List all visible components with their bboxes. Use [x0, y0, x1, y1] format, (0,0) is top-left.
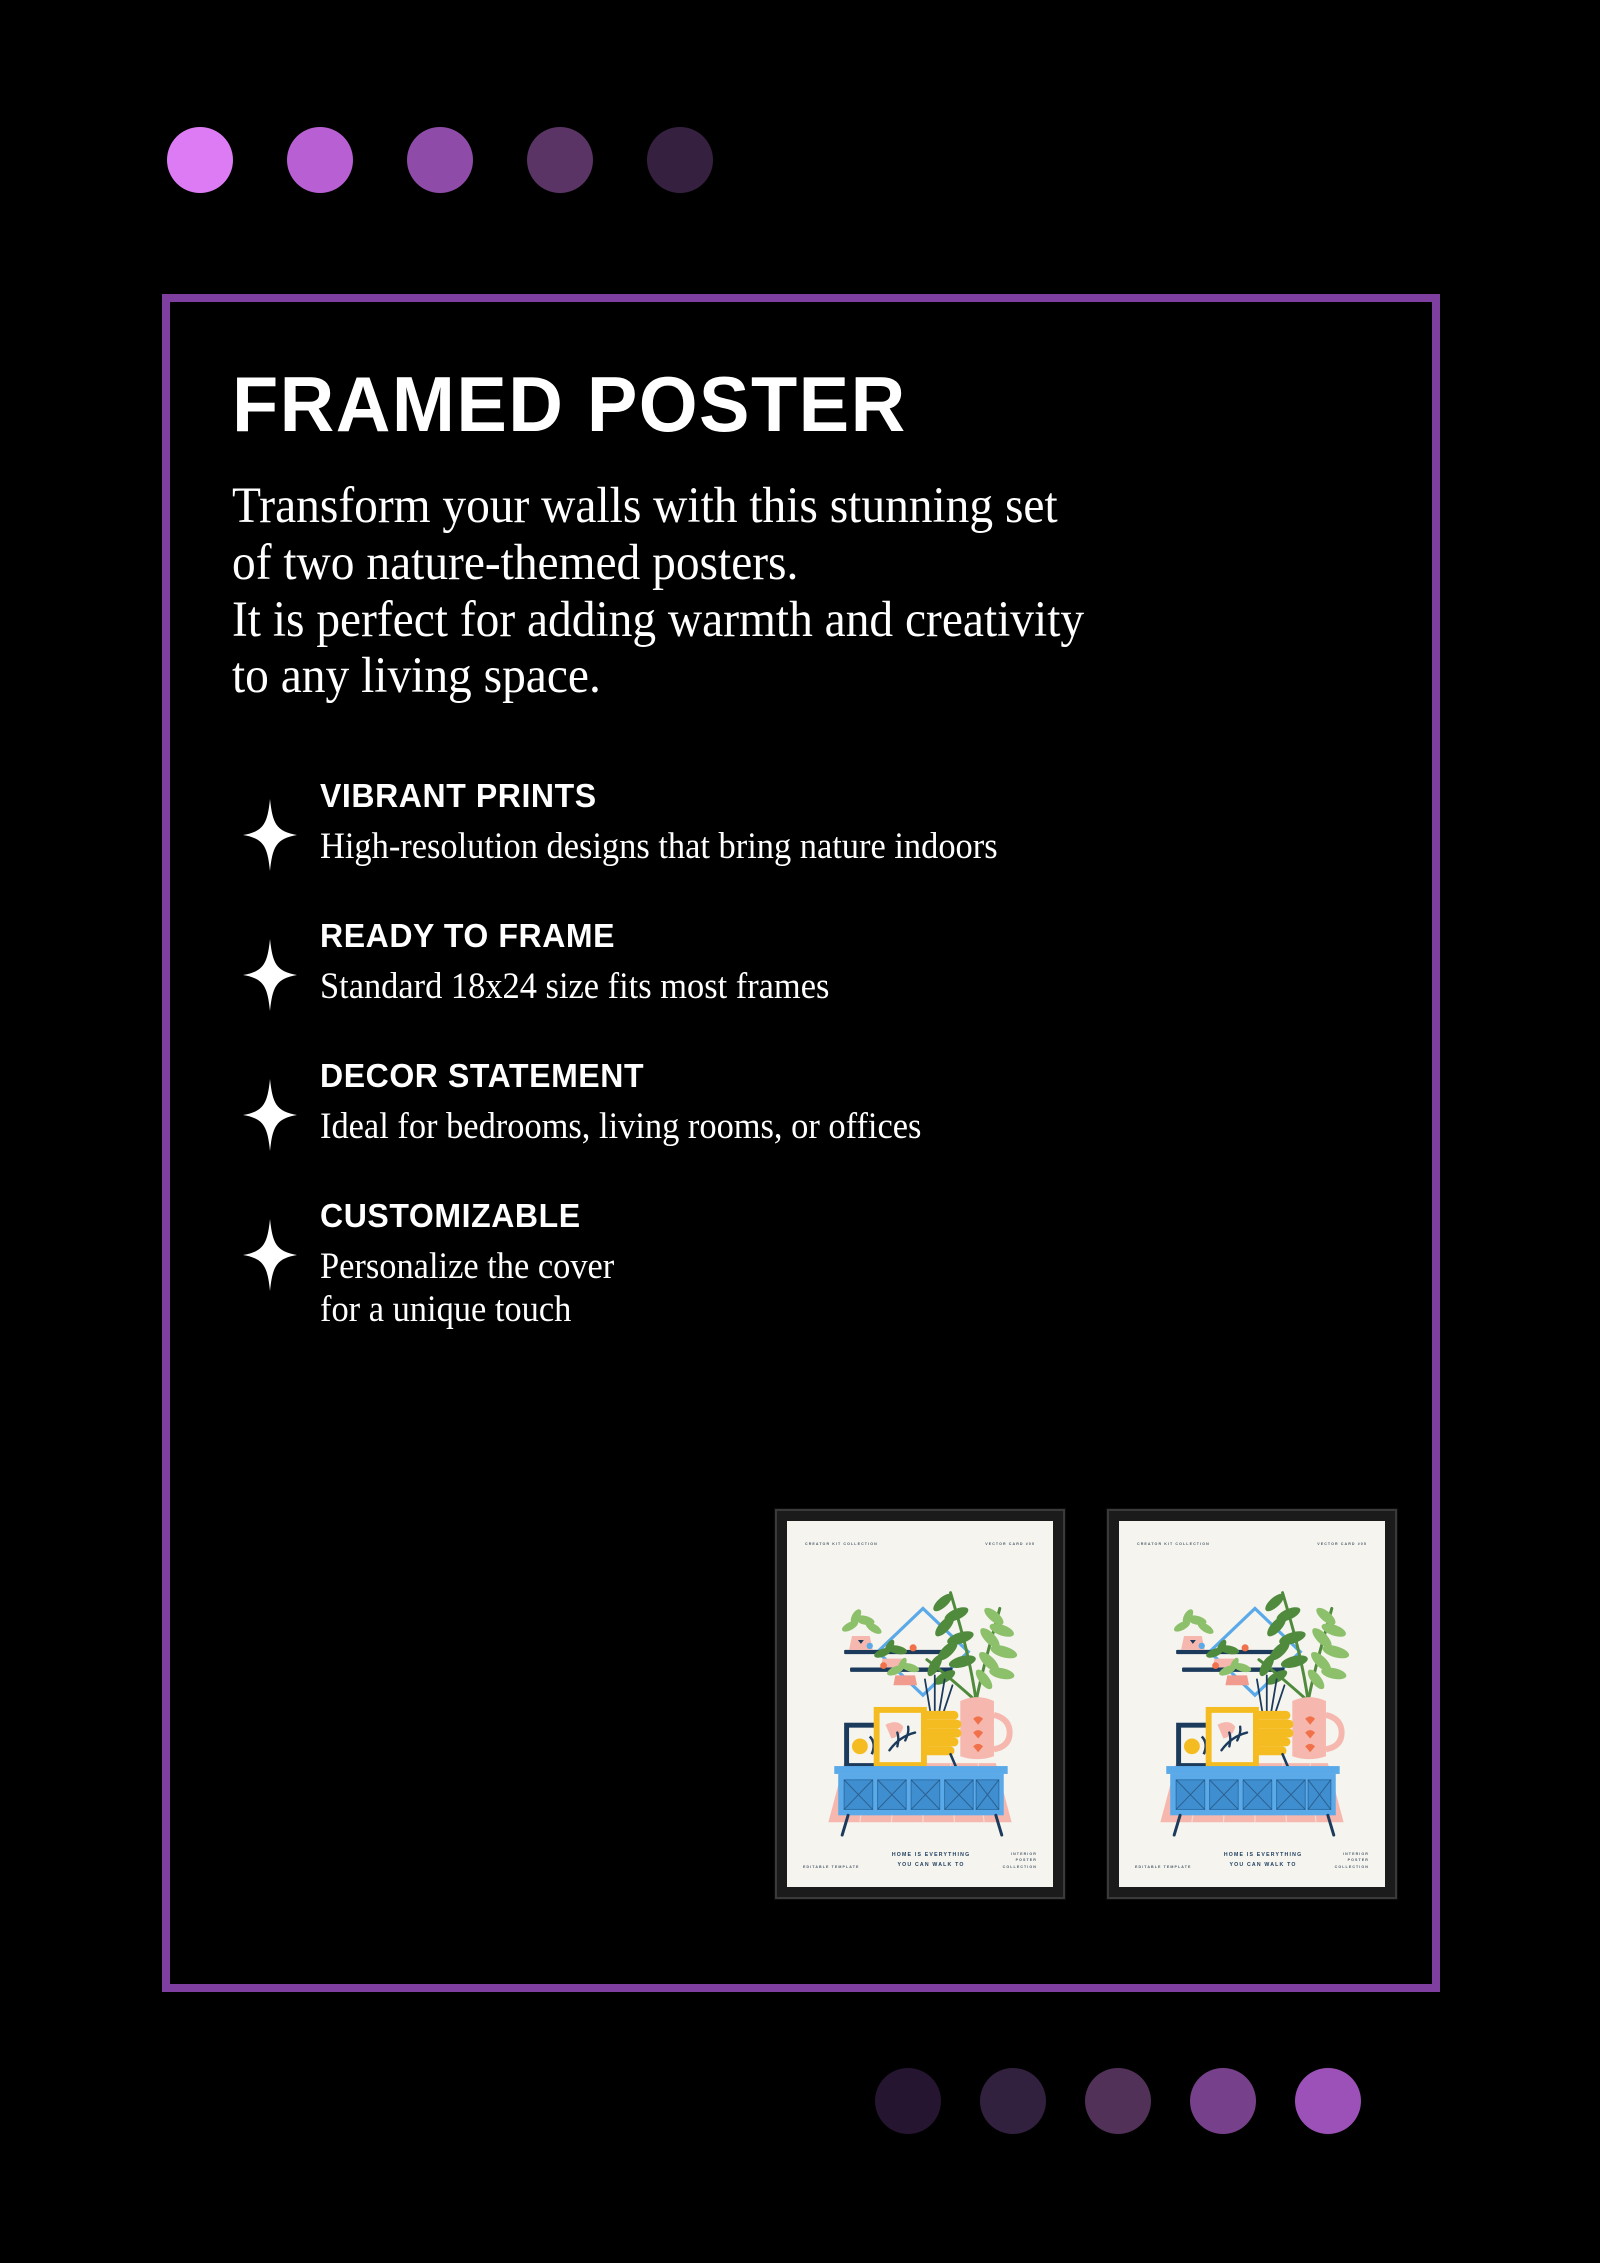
poster-template-label: EDITABLE TEMPLATE [803, 1864, 860, 1871]
feature-list: VIBRANT PRINTS High-resolution designs t… [232, 777, 1370, 1332]
decorative-dot [1190, 2068, 1256, 2134]
feature-title: READY TO FRAME [320, 917, 851, 955]
decorative-dot [1085, 2068, 1151, 2134]
decorative-dot [167, 127, 233, 193]
bottom-dot-row [875, 2068, 1361, 2134]
sparkle-icon [232, 1057, 308, 1151]
sparkle-icon [232, 777, 308, 871]
decorative-dot [527, 127, 593, 193]
sparkle-icon [232, 1197, 308, 1291]
feature-item: DECOR STATEMENT Ideal for bedrooms, livi… [232, 1057, 1370, 1151]
poster-preview-group: CREATOR KIT COLLECTION VECTOR CARD #05 E… [775, 1509, 1397, 1899]
feature-description: Ideal for bedrooms, living rooms, or off… [320, 1105, 921, 1149]
page-title: FRAMED POSTER [232, 366, 1336, 442]
feature-item: CUSTOMIZABLE Personalize the cover for a… [232, 1197, 1370, 1332]
poster-collection-label: CREATOR KIT COLLECTION [1137, 1541, 1210, 1548]
poster-meta-bottom: EDITABLE TEMPLATE HOME IS EVERYTHING YOU… [1135, 1851, 1369, 1871]
feature-description: Personalize the cover for a unique touch [320, 1245, 614, 1332]
poster-thumbnail[interactable]: CREATOR KIT COLLECTION VECTOR CARD #05 E… [1107, 1509, 1397, 1899]
feature-title: CUSTOMIZABLE [320, 1197, 627, 1235]
poster-series-label: INTERIOR POSTER COLLECTION [1003, 1851, 1037, 1871]
poster-series-label: INTERIOR POSTER COLLECTION [1335, 1851, 1369, 1871]
poster-artwork: CREATOR KIT COLLECTION VECTOR CARD #05 E… [787, 1521, 1053, 1887]
top-dot-row [167, 127, 713, 193]
decorative-dot [1295, 2068, 1361, 2134]
poster-meta-top: CREATOR KIT COLLECTION VECTOR CARD #05 [805, 1541, 1035, 1548]
poster-card-number: VECTOR CARD #05 [985, 1541, 1035, 1548]
decorative-dot [407, 127, 473, 193]
poster-artwork: CREATOR KIT COLLECTION VECTOR CARD #05 E… [1119, 1521, 1385, 1887]
poster-thumbnail[interactable]: CREATOR KIT COLLECTION VECTOR CARD #05 E… [775, 1509, 1065, 1899]
decorative-dot [875, 2068, 941, 2134]
feature-item: READY TO FRAME Standard 18x24 size fits … [232, 917, 1370, 1011]
feature-description: High-resolution designs that bring natur… [320, 825, 998, 869]
poster-tagline: HOME IS EVERYTHING YOU CAN WALK TO [1224, 1851, 1302, 1871]
interior-illustration [1119, 1521, 1385, 1887]
feature-title: DECOR STATEMENT [320, 1057, 947, 1095]
feature-title: VIBRANT PRINTS [320, 777, 1027, 815]
feature-item: VIBRANT PRINTS High-resolution designs t… [232, 777, 1370, 871]
feature-description: Standard 18x24 size fits most frames [320, 965, 829, 1009]
poster-card-number: VECTOR CARD #05 [1317, 1541, 1367, 1548]
poster-meta-top: CREATOR KIT COLLECTION VECTOR CARD #05 [1137, 1541, 1367, 1548]
decorative-dot [647, 127, 713, 193]
intro-paragraph: Transform your walls with this stunning … [232, 478, 1290, 704]
sparkle-icon [232, 917, 308, 1011]
interior-illustration [787, 1521, 1053, 1887]
poster-tagline: HOME IS EVERYTHING YOU CAN WALK TO [892, 1851, 970, 1871]
poster-collection-label: CREATOR KIT COLLECTION [805, 1541, 878, 1548]
decorative-dot [287, 127, 353, 193]
decorative-dot [980, 2068, 1046, 2134]
feature-card: FRAMED POSTER Transform your walls with … [162, 294, 1440, 1992]
poster-meta-bottom: EDITABLE TEMPLATE HOME IS EVERYTHING YOU… [803, 1851, 1037, 1871]
poster-template-label: EDITABLE TEMPLATE [1135, 1864, 1192, 1871]
